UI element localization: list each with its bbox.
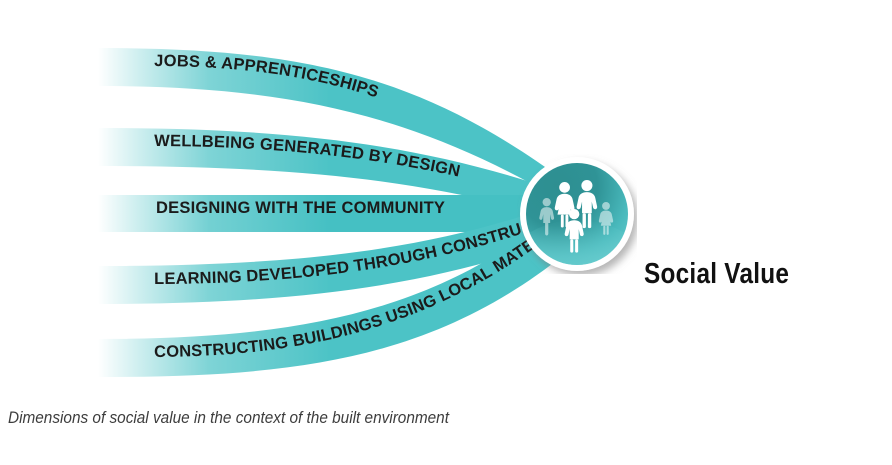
- figure-caption: Dimensions of social value in the contex…: [8, 409, 449, 428]
- social-value-diagram: JOBS & APPRENTICESHIPS WELLBEING GENERAT…: [0, 0, 892, 465]
- branch-label-3: DESIGNING WITH THE COMMUNITY: [156, 199, 445, 217]
- social-value-hub[interactable]: [517, 154, 637, 274]
- page-title: Social Value: [644, 258, 789, 291]
- group-of-people-icon: [517, 154, 637, 274]
- branches-canvas: JOBS & APPRENTICESHIPS WELLBEING GENERAT…: [0, 0, 892, 465]
